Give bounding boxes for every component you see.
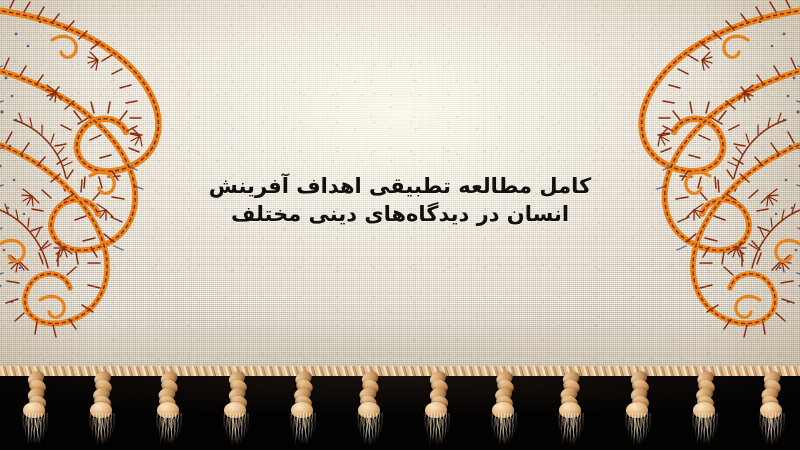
paisley-corner-left-ornament (0, 0, 244, 360)
paisley-corner-right-ornament (556, 0, 800, 360)
tassel (85, 372, 119, 450)
tassel (353, 372, 387, 450)
tassel (487, 372, 521, 450)
tassel (755, 372, 789, 450)
tassel (621, 372, 655, 450)
lower-black-band (0, 376, 800, 450)
tassel (152, 372, 186, 450)
tassel (18, 372, 52, 450)
tassel (554, 372, 588, 450)
slide-canvas: کامل مطالعه تطبیقی اهداف آفرینش انسان در… (0, 0, 800, 450)
tassel (420, 372, 454, 450)
tassel (219, 372, 253, 450)
tassel (688, 372, 722, 450)
tassel (286, 372, 320, 450)
